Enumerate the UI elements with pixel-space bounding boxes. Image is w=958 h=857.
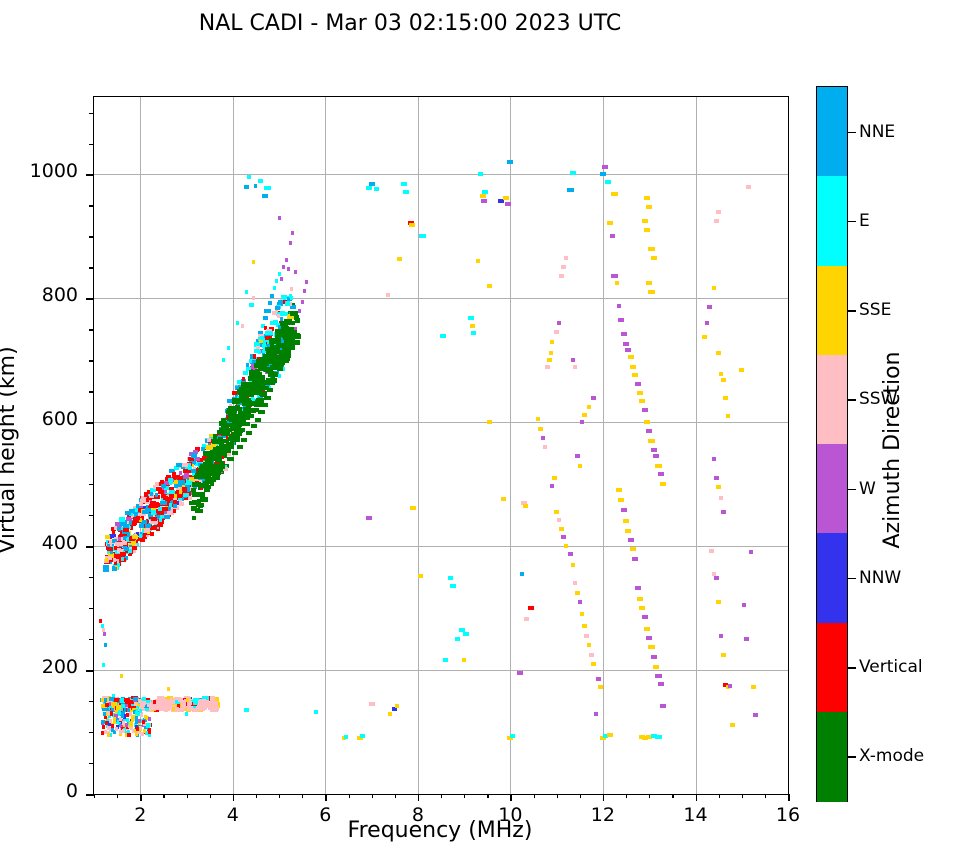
echo-point <box>642 615 648 619</box>
echo-point <box>102 628 105 632</box>
echo-point <box>611 192 617 196</box>
page-title: NAL CADI - Mar 03 02:15:00 2023 UTC <box>0 11 820 36</box>
echo-point <box>277 334 282 339</box>
echo-point <box>594 712 599 716</box>
echo-point <box>648 645 654 649</box>
echo-point <box>478 172 483 176</box>
echo-point <box>749 550 754 554</box>
echo-point <box>611 274 617 278</box>
echo-point <box>294 270 297 274</box>
echo-point <box>618 498 624 502</box>
echo-point <box>172 707 175 711</box>
echo-point <box>162 507 168 511</box>
echo-point <box>716 600 721 604</box>
echo-point <box>440 334 446 338</box>
echo-point <box>598 685 603 689</box>
echo-point <box>122 541 127 545</box>
echo-point <box>177 494 182 498</box>
x-tick-minor <box>649 794 650 798</box>
echo-point <box>111 702 117 706</box>
echo-point <box>252 296 255 300</box>
echo-point <box>198 492 204 497</box>
echo-point <box>625 348 631 352</box>
echo-point <box>256 372 262 377</box>
echo-point <box>388 712 393 716</box>
y-tick-minor <box>89 113 94 114</box>
azimuth-colorbar[interactable]: NNEESSESSWWNNWVerticalX-mode <box>816 86 848 802</box>
echo-point <box>616 488 622 492</box>
echo-point <box>127 733 130 737</box>
echo-point <box>222 358 225 362</box>
echo-point <box>637 391 643 395</box>
echo-point <box>289 241 292 245</box>
echo-point <box>712 457 717 461</box>
echo-point <box>260 385 265 390</box>
echo-point <box>739 368 744 372</box>
echo-point <box>205 485 211 490</box>
y-tick-minor <box>89 144 94 145</box>
echo-point <box>191 453 197 457</box>
gridline-horizontal <box>94 422 788 423</box>
echo-point <box>222 431 230 436</box>
echo-point <box>131 718 134 722</box>
x-tick-minor <box>94 794 95 798</box>
echo-point <box>275 306 280 310</box>
x-tick-minor <box>672 794 673 798</box>
echo-point <box>607 733 613 737</box>
echo-point <box>118 537 121 541</box>
colorbar-segment-w[interactable] <box>817 444 847 534</box>
echo-point <box>578 600 583 604</box>
echo-point <box>146 723 149 727</box>
echo-point <box>271 349 279 354</box>
echo-point <box>119 517 125 521</box>
echo-point <box>559 274 564 278</box>
echo-point <box>242 377 245 381</box>
echo-point <box>266 368 272 373</box>
echo-point <box>198 707 204 711</box>
echo-point <box>241 438 247 442</box>
echo-point <box>227 457 233 461</box>
echo-point <box>289 294 292 298</box>
colorbar-segment-vertical[interactable] <box>817 623 847 713</box>
echo-point <box>618 318 624 322</box>
echo-point <box>208 453 213 458</box>
x-tick-minor <box>279 794 280 798</box>
gridline-vertical <box>140 97 141 794</box>
echo-point <box>113 720 116 724</box>
echo-point <box>520 572 525 576</box>
x-tick-major <box>418 794 420 801</box>
echo-point <box>285 258 288 262</box>
echo-point <box>721 653 726 657</box>
echo-point <box>646 636 652 640</box>
echo-point <box>121 553 124 557</box>
echo-point <box>105 703 110 707</box>
x-tick-major <box>325 794 327 801</box>
echo-point <box>481 199 487 203</box>
echo-point <box>550 340 555 344</box>
echo-point <box>600 172 606 176</box>
echo-point <box>129 712 132 716</box>
echo-point <box>245 290 248 294</box>
echo-point <box>104 730 107 734</box>
echo-point <box>192 492 197 497</box>
echo-point <box>243 398 251 403</box>
echo-point <box>621 508 627 512</box>
echo-point <box>366 516 372 520</box>
echo-point <box>401 182 407 186</box>
echo-point <box>397 257 402 261</box>
echo-point <box>183 493 189 497</box>
y-tick-minor <box>89 732 94 733</box>
x-tick-major <box>140 794 142 801</box>
colorbar-tick <box>848 132 856 134</box>
echo-point <box>151 517 157 521</box>
echo-point <box>719 496 724 500</box>
echo-point <box>241 422 247 427</box>
echo-point <box>463 632 469 636</box>
echo-point <box>195 508 200 513</box>
echo-point <box>169 503 172 507</box>
x-tick-major <box>510 794 512 801</box>
echo-point <box>571 563 576 567</box>
echo-point <box>730 723 735 727</box>
echo-point <box>129 509 135 513</box>
y-tick-major <box>86 174 94 176</box>
echo-point <box>242 382 247 387</box>
echo-point <box>541 436 546 440</box>
y-tick-minor <box>89 639 94 640</box>
echo-point <box>723 396 728 400</box>
colorbar-tick <box>848 310 856 312</box>
echo-point <box>140 499 145 503</box>
gridline-vertical <box>696 97 697 794</box>
echo-point <box>568 552 573 556</box>
colorbar-tick <box>848 667 856 669</box>
echo-point <box>142 697 145 701</box>
echo-point <box>561 265 566 269</box>
colorbar-segment-sse[interactable] <box>817 266 847 356</box>
colorbar-tick <box>848 489 856 491</box>
echo-point <box>655 674 661 678</box>
echo-point <box>211 477 216 482</box>
echo-point <box>702 335 707 339</box>
echo-point <box>462 658 467 662</box>
x-tick-major <box>696 794 698 801</box>
y-tick-major <box>86 422 94 424</box>
echo-point <box>159 518 162 522</box>
echo-point <box>120 674 123 678</box>
echo-point <box>124 698 130 702</box>
echo-point <box>648 247 654 251</box>
echo-point <box>115 727 118 731</box>
echo-point <box>505 202 511 206</box>
colorbar-segment-e[interactable] <box>817 176 847 266</box>
echo-point <box>487 284 492 288</box>
echo-point <box>105 721 108 725</box>
echo-point <box>174 494 177 498</box>
echo-point <box>136 727 139 731</box>
y-tick-minor <box>89 267 94 268</box>
echo-point <box>653 454 659 458</box>
echo-point <box>651 655 657 659</box>
echo-point <box>173 504 178 508</box>
echo-point <box>655 735 661 739</box>
echo-point <box>642 408 648 412</box>
echo-point <box>262 403 268 407</box>
echo-point <box>369 182 375 186</box>
echo-point <box>134 521 137 525</box>
echo-point <box>164 707 170 711</box>
colorbar-title: Azimuth Direction <box>880 290 905 610</box>
echo-point <box>573 581 578 585</box>
echo-point <box>374 187 379 191</box>
echo-point <box>220 461 225 466</box>
echo-point <box>99 619 102 623</box>
echo-point <box>507 160 513 164</box>
echo-point <box>605 180 611 184</box>
echo-point <box>285 301 290 305</box>
echo-point <box>623 342 629 346</box>
echo-point <box>220 421 226 426</box>
echo-point <box>246 431 252 435</box>
echo-point <box>716 485 721 489</box>
echo-point <box>294 340 300 345</box>
echo-point <box>305 280 308 284</box>
echo-point <box>655 464 661 468</box>
echo-point <box>290 311 298 316</box>
echo-point <box>721 510 726 514</box>
x-tick-minor <box>163 794 164 798</box>
x-tick-minor <box>534 794 535 798</box>
echo-point <box>644 420 650 424</box>
echo-point <box>564 544 569 548</box>
echo-point <box>443 658 448 662</box>
echo-point <box>193 701 198 705</box>
echo-point <box>148 717 151 721</box>
echo-point <box>261 381 266 386</box>
echo-point <box>450 584 456 588</box>
echo-point <box>129 722 132 726</box>
x-tick-minor <box>256 794 257 798</box>
echo-point <box>295 318 300 323</box>
x-tick-minor <box>580 794 581 798</box>
x-tick-minor <box>395 794 396 798</box>
echo-point <box>714 576 719 580</box>
echo-point <box>705 321 710 325</box>
y-tick-minor <box>89 515 94 516</box>
echo-point <box>580 612 585 616</box>
echo-point <box>210 471 215 476</box>
echo-point <box>719 372 724 376</box>
echo-point <box>455 637 460 641</box>
colorbar-label-e: E <box>859 211 870 231</box>
echo-point <box>178 708 184 712</box>
echo-point <box>263 316 268 320</box>
echo-point <box>550 484 555 488</box>
echo-point <box>628 355 634 359</box>
colorbar-label-nne: NNE <box>859 122 895 142</box>
echo-point <box>258 350 261 354</box>
echo-point <box>227 346 230 350</box>
echo-point <box>587 405 592 409</box>
echo-point <box>707 305 712 309</box>
y-tick-label: 0 <box>0 782 78 801</box>
gridline-horizontal <box>94 670 788 671</box>
colorbar-tick <box>848 399 856 401</box>
echo-point <box>628 538 634 542</box>
echo-point <box>567 188 573 192</box>
echo-point <box>138 699 141 703</box>
echo-point <box>143 533 146 537</box>
echo-point <box>298 309 301 313</box>
echo-point <box>584 634 589 638</box>
echo-point <box>615 281 620 285</box>
echo-point <box>150 501 156 505</box>
echo-point <box>386 293 391 297</box>
y-tick-minor <box>89 205 94 206</box>
y-tick-minor <box>89 577 94 578</box>
echo-point <box>192 482 198 487</box>
echo-point <box>254 184 257 188</box>
echo-point <box>635 382 641 386</box>
echo-point <box>646 205 652 209</box>
echo-point <box>503 196 509 200</box>
echo-point <box>480 194 486 198</box>
echo-point <box>241 324 244 328</box>
echo-point <box>268 301 273 305</box>
echo-point <box>132 535 138 539</box>
x-tick-major <box>233 794 235 801</box>
echo-point <box>524 617 529 621</box>
colorbar-segment-ssw[interactable] <box>817 355 847 445</box>
echo-point <box>578 464 583 468</box>
echo-point <box>630 547 636 551</box>
echo-point <box>580 420 585 424</box>
echo-point <box>658 472 664 476</box>
echo-point <box>127 532 130 536</box>
echo-point <box>153 525 156 529</box>
echo-point <box>173 509 176 513</box>
echo-point <box>238 428 243 433</box>
echo-point <box>258 179 263 183</box>
echo-point <box>153 700 156 704</box>
echo-point <box>232 451 238 455</box>
echo-point <box>114 546 117 550</box>
echo-point <box>648 290 654 294</box>
echo-point <box>215 467 223 472</box>
echo-point <box>188 704 191 708</box>
echo-point <box>714 219 719 223</box>
echo-point <box>625 529 631 533</box>
echo-point <box>559 527 564 531</box>
echo-point <box>303 289 306 293</box>
colorbar-segment-nne[interactable] <box>817 87 847 177</box>
echo-point <box>709 549 714 553</box>
echo-point <box>575 591 580 595</box>
echo-point <box>284 341 289 346</box>
echo-point <box>256 398 264 403</box>
echo-point <box>247 175 252 179</box>
echo-point <box>121 557 124 561</box>
y-tick-minor <box>89 236 94 237</box>
echo-point <box>252 378 260 383</box>
echo-point <box>728 684 733 688</box>
echo-point <box>172 475 178 479</box>
colorbar-label-x-mode: X-mode <box>859 746 924 766</box>
echo-point <box>133 697 138 701</box>
echo-point <box>746 185 751 189</box>
echo-point <box>233 436 239 441</box>
echo-point <box>610 234 615 238</box>
x-tick-minor <box>441 794 442 798</box>
echo-point <box>552 476 557 480</box>
echo-point <box>287 267 290 271</box>
y-tick-major <box>86 546 94 548</box>
echo-point <box>215 704 218 708</box>
echo-point <box>182 487 187 491</box>
x-tick-minor <box>557 794 558 798</box>
y-tick-major <box>86 298 94 300</box>
echo-point <box>596 677 601 681</box>
echo-point <box>570 171 576 175</box>
colorbar-tick <box>848 221 856 223</box>
echo-point <box>282 265 285 269</box>
colorbar-segment-nnw[interactable] <box>817 533 847 623</box>
echo-point <box>644 228 650 232</box>
colorbar-segment-x-mode[interactable] <box>817 712 847 802</box>
x-tick-minor <box>187 794 188 798</box>
echo-point <box>621 332 627 336</box>
echo-point <box>528 606 534 610</box>
echo-point <box>751 685 756 689</box>
echo-point <box>189 701 192 705</box>
echo-point <box>646 281 652 285</box>
echo-point <box>602 165 608 169</box>
echo-point <box>105 535 110 539</box>
x-tick-minor <box>349 794 350 798</box>
echo-point <box>244 185 249 189</box>
echo-point <box>103 632 106 636</box>
echo-point <box>249 303 254 307</box>
gridline-vertical <box>418 97 419 794</box>
echo-point <box>418 574 423 578</box>
echo-point <box>547 358 552 362</box>
echo-point <box>571 358 576 362</box>
echo-point <box>142 720 145 724</box>
echo-point <box>120 522 125 526</box>
ionogram-page: NAL CADI - Mar 03 02:15:00 2023 UTC 2468… <box>0 0 958 857</box>
echo-point <box>139 524 144 528</box>
echo-point <box>360 734 365 738</box>
echo-point <box>192 708 198 712</box>
gridline-horizontal <box>94 298 788 299</box>
echo-point <box>255 418 261 422</box>
echo-point <box>236 321 239 325</box>
echo-point <box>660 482 666 486</box>
echo-point <box>623 519 629 523</box>
echo-point <box>150 492 153 496</box>
y-tick-major <box>86 670 94 672</box>
echo-point <box>301 300 304 304</box>
echo-point <box>716 210 721 214</box>
echo-point <box>191 488 196 493</box>
echo-point <box>582 413 587 417</box>
x-tick-minor <box>626 794 627 798</box>
echo-point <box>637 597 643 601</box>
echo-point <box>575 454 580 458</box>
